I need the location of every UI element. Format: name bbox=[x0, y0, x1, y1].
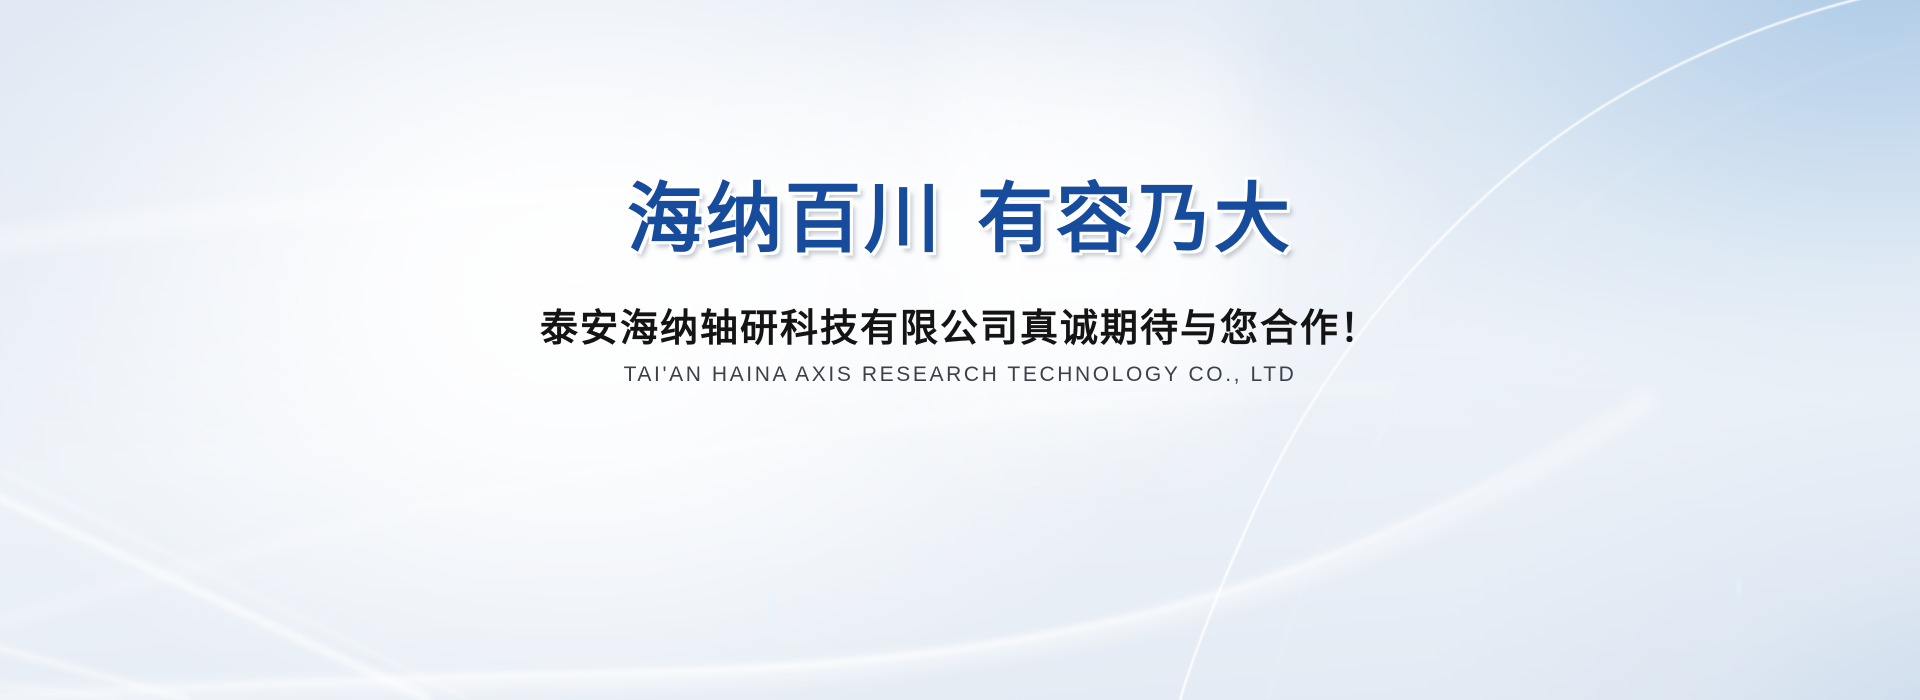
banner-content: 海纳百川有容乃大 泰安海纳轴研科技有限公司真诚期待与您合作！ TAI'AN HA… bbox=[0, 0, 1920, 700]
banner-subtitle-chinese: 泰安海纳轴研科技有限公司真诚期待与您合作！ bbox=[0, 306, 1920, 354]
hero-banner: 海纳百川有容乃大 泰安海纳轴研科技有限公司真诚期待与您合作！ TAI'AN HA… bbox=[0, 0, 1920, 700]
banner-subtitle-english: TAI'AN HAINA AXIS RESEARCH TECHNOLOGY CO… bbox=[0, 361, 1920, 388]
headline-phrase-2: 有容乃大 bbox=[977, 177, 1293, 262]
headline-phrase-1: 海纳百川 bbox=[627, 177, 943, 262]
banner-headline: 海纳百川有容乃大 bbox=[0, 182, 1920, 258]
